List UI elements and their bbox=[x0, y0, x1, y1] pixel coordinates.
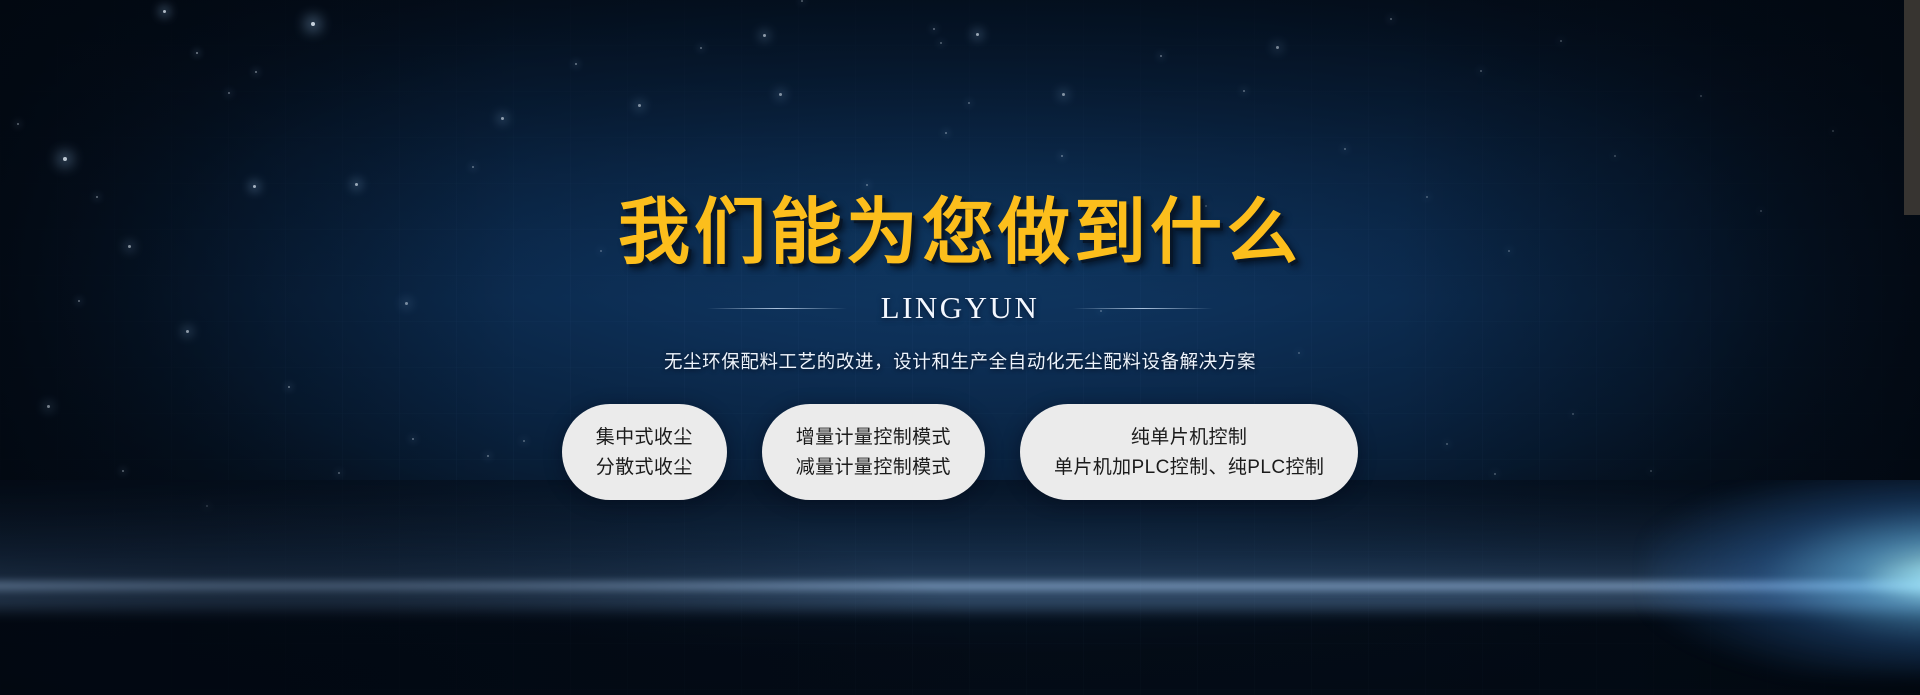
tagline: 无尘环保配料工艺的改进，设计和生产全自动化无尘配料设备解决方案 bbox=[664, 348, 1256, 374]
feature-card[interactable]: 集中式收尘分散式收尘 bbox=[562, 404, 727, 500]
feature-card-line: 纯单片机控制 bbox=[1131, 428, 1247, 447]
brand-name: LINGYUN bbox=[881, 290, 1040, 326]
hero-banner: 我们能为您做到什么 LINGYUN 无尘环保配料工艺的改进，设计和生产全自动化无… bbox=[0, 0, 1920, 695]
divider-line-right bbox=[1073, 308, 1213, 309]
feature-card[interactable]: 纯单片机控制单片机加PLC控制、纯PLC控制 bbox=[1020, 404, 1358, 500]
feature-card[interactable]: 增量计量控制模式减量计量控制模式 bbox=[762, 404, 985, 500]
brand-subtitle-row: LINGYUN bbox=[707, 290, 1214, 326]
page-title: 我们能为您做到什么 bbox=[618, 196, 1302, 268]
feature-card-line: 减量计量控制模式 bbox=[796, 458, 951, 477]
feature-card-line: 分散式收尘 bbox=[596, 458, 693, 477]
divider-line-left bbox=[707, 308, 847, 309]
feature-card-list: 集中式收尘分散式收尘增量计量控制模式减量计量控制模式纯单片机控制单片机加PLC控… bbox=[562, 404, 1359, 500]
feature-card-line: 增量计量控制模式 bbox=[796, 428, 951, 447]
feature-card-line: 单片机加PLC控制、纯PLC控制 bbox=[1054, 458, 1324, 477]
banner-content: 我们能为您做到什么 LINGYUN 无尘环保配料工艺的改进，设计和生产全自动化无… bbox=[0, 0, 1920, 695]
feature-card-line: 集中式收尘 bbox=[596, 428, 693, 447]
